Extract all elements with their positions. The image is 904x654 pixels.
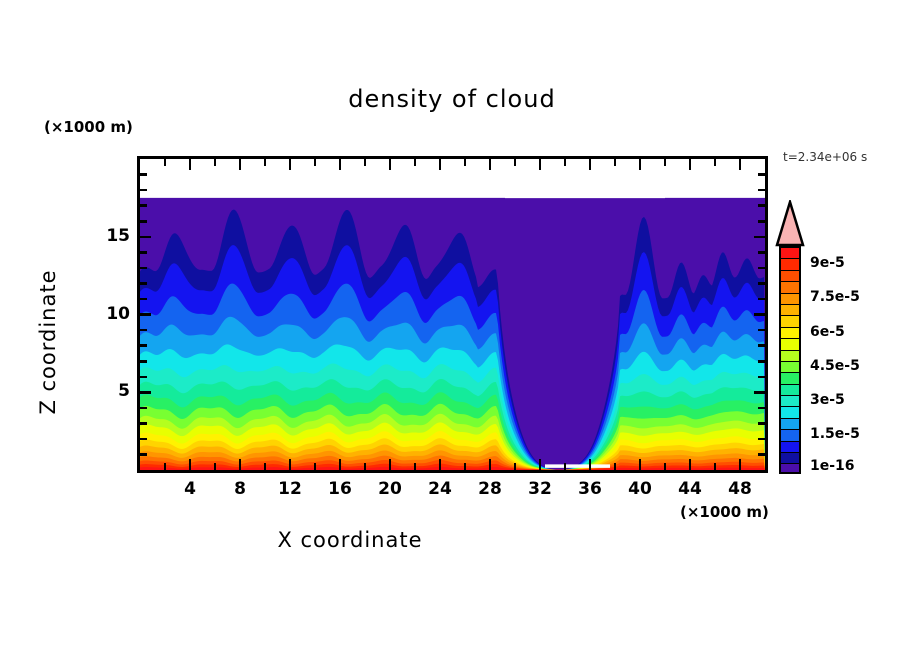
x-tick-label-28: 28 — [470, 479, 510, 499]
x-tick-22 — [414, 463, 417, 470]
x-tick-top-40 — [639, 159, 642, 170]
y-tick-8 — [140, 344, 147, 347]
contour-plot-area — [137, 156, 768, 473]
y-tick-right-16 — [758, 220, 765, 223]
x-tick-48 — [739, 459, 742, 470]
y-tick-right-14 — [758, 251, 765, 254]
x-tick-2 — [164, 463, 167, 470]
timestamp-annotation: t=2.34e+06 s — [783, 150, 867, 164]
y-tick-right-3 — [758, 422, 765, 425]
x-tick-top-38 — [614, 159, 617, 166]
x-tick-label-40: 40 — [620, 479, 660, 499]
x-tick-18 — [364, 463, 367, 470]
x-tick-top-36 — [589, 159, 592, 170]
x-tick-label-8: 8 — [220, 479, 260, 499]
y-tick-right-2 — [758, 438, 765, 441]
x-tick-top-42 — [664, 159, 667, 166]
y-tick-right-9 — [758, 329, 765, 332]
y-tick-right-17 — [758, 204, 765, 207]
x-tick-top-24 — [439, 159, 442, 170]
x-tick-top-18 — [364, 159, 367, 166]
y-tick-10 — [140, 313, 151, 316]
x-tick-top-44 — [689, 159, 692, 170]
colorbar-band-5 — [781, 305, 799, 316]
x-tick-label-12: 12 — [270, 479, 310, 499]
colorbar-band-1 — [781, 259, 799, 270]
y-tick-1 — [140, 453, 147, 456]
x-tick-label-44: 44 — [670, 479, 710, 499]
x-tick-top-8 — [239, 159, 242, 170]
colorbar-label-2: 6e-5 — [810, 324, 845, 340]
y-tick-right-1 — [758, 453, 765, 456]
x-tick-label-36: 36 — [570, 479, 610, 499]
y-tick-right-7 — [758, 360, 765, 363]
colorbar-band-9 — [781, 351, 799, 362]
colorbar-band-17 — [781, 442, 799, 453]
x-tick-label-16: 16 — [320, 479, 360, 499]
y-axis-unit-label: (×1000 m) — [44, 118, 133, 136]
x-tick-label-4: 4 — [170, 479, 210, 499]
x-tick-6 — [214, 463, 217, 470]
colorbar-label-3: 4.5e-5 — [810, 358, 860, 374]
colorbar-label-4: 3e-5 — [810, 392, 845, 408]
x-tick-8 — [239, 459, 242, 470]
plot-title: density of cloud — [0, 85, 904, 113]
y-tick-11 — [140, 298, 147, 301]
x-tick-top-32 — [539, 159, 542, 170]
colorbar-band-4 — [781, 294, 799, 305]
x-tick-4 — [189, 459, 192, 470]
x-tick-46 — [714, 463, 717, 470]
colorbar-band-14 — [781, 407, 799, 418]
y-tick-right-12 — [758, 282, 765, 285]
colorbar-band-7 — [781, 328, 799, 339]
x-tick-32 — [539, 459, 542, 470]
x-tick-28 — [489, 459, 492, 470]
x-tick-label-32: 32 — [520, 479, 560, 499]
y-tick-right-10 — [754, 313, 765, 316]
colorbar-band-0 — [781, 248, 799, 259]
x-tick-top-20 — [389, 159, 392, 170]
x-tick-top-14 — [314, 159, 317, 166]
y-tick-3 — [140, 422, 147, 425]
y-tick-right-8 — [758, 344, 765, 347]
colorbar-label-6: 1e-16 — [810, 458, 855, 474]
x-tick-20 — [389, 459, 392, 470]
x-tick-top-12 — [289, 159, 292, 170]
colorbar-band-16 — [781, 430, 799, 441]
y-tick-right-5 — [754, 391, 765, 394]
y-tick-right-18 — [758, 189, 765, 192]
x-tick-label-24: 24 — [420, 479, 460, 499]
colorbar-label-5: 1.5e-5 — [810, 426, 860, 442]
x-tick-top-48 — [739, 159, 742, 170]
colorbar-band-2 — [781, 271, 799, 282]
colorbar[interactable] — [779, 246, 801, 474]
x-tick-top-10 — [264, 159, 267, 166]
x-tick-label-20: 20 — [370, 479, 410, 499]
y-tick-4 — [140, 407, 147, 410]
x-tick-26 — [464, 463, 467, 470]
y-tick-right-15 — [754, 236, 765, 239]
x-tick-top-28 — [489, 159, 492, 170]
y-tick-label-10: 10 — [90, 304, 130, 324]
colorbar-band-18 — [781, 453, 799, 464]
colorbar-band-12 — [781, 385, 799, 396]
x-tick-30 — [514, 463, 517, 470]
y-tick-label-5: 5 — [90, 381, 130, 401]
y-tick-label-15: 15 — [90, 226, 130, 246]
y-tick-9 — [140, 329, 147, 332]
x-tick-24 — [439, 459, 442, 470]
x-tick-top-2 — [164, 159, 167, 166]
y-tick-2 — [140, 438, 147, 441]
y-tick-7 — [140, 360, 147, 363]
y-tick-14 — [140, 251, 147, 254]
x-tick-label-48: 48 — [720, 479, 760, 499]
y-tick-right-11 — [758, 298, 765, 301]
x-axis-unit-label: (×1000 m) — [680, 503, 769, 521]
colorbar-band-19 — [781, 464, 799, 474]
x-tick-38 — [614, 463, 617, 470]
contour-field — [140, 159, 765, 470]
x-tick-16 — [339, 459, 342, 470]
y-tick-right-19 — [758, 173, 765, 176]
x-tick-top-30 — [514, 159, 517, 166]
y-tick-right-13 — [758, 267, 765, 270]
x-tick-top-34 — [564, 159, 567, 166]
y-tick-19 — [140, 173, 147, 176]
colorbar-band-15 — [781, 419, 799, 430]
colorbar-band-10 — [781, 362, 799, 373]
colorbar-band-3 — [781, 282, 799, 293]
x-tick-44 — [689, 459, 692, 470]
y-tick-13 — [140, 267, 147, 270]
colorbar-band-6 — [781, 316, 799, 327]
x-tick-top-46 — [714, 159, 717, 166]
y-tick-18 — [140, 189, 147, 192]
y-tick-16 — [140, 220, 147, 223]
x-tick-top-16 — [339, 159, 342, 170]
y-tick-right-6 — [758, 376, 765, 379]
x-tick-top-4 — [189, 159, 192, 170]
colorbar-label-0: 9e-5 — [810, 255, 845, 271]
colorbar-band-11 — [781, 373, 799, 384]
x-tick-top-22 — [414, 159, 417, 166]
y-tick-6 — [140, 376, 147, 379]
y-tick-17 — [140, 204, 147, 207]
x-tick-12 — [289, 459, 292, 470]
x-tick-40 — [639, 459, 642, 470]
x-tick-top-26 — [464, 159, 467, 166]
x-tick-36 — [589, 459, 592, 470]
y-tick-5 — [140, 391, 151, 394]
colorbar-label-1: 7.5e-5 — [810, 289, 860, 305]
y-tick-12 — [140, 282, 147, 285]
x-tick-top-6 — [214, 159, 217, 166]
y-axis-title: Z coordinate — [36, 232, 60, 452]
x-axis-title: X coordinate — [0, 528, 700, 552]
x-tick-10 — [264, 463, 267, 470]
colorbar-band-13 — [781, 396, 799, 407]
x-tick-14 — [314, 463, 317, 470]
y-tick-15 — [140, 236, 151, 239]
colorbar-over-arrow — [775, 200, 805, 247]
x-tick-42 — [664, 463, 667, 470]
x-tick-34 — [564, 463, 567, 470]
colorbar-band-8 — [781, 339, 799, 350]
y-tick-right-4 — [758, 407, 765, 410]
